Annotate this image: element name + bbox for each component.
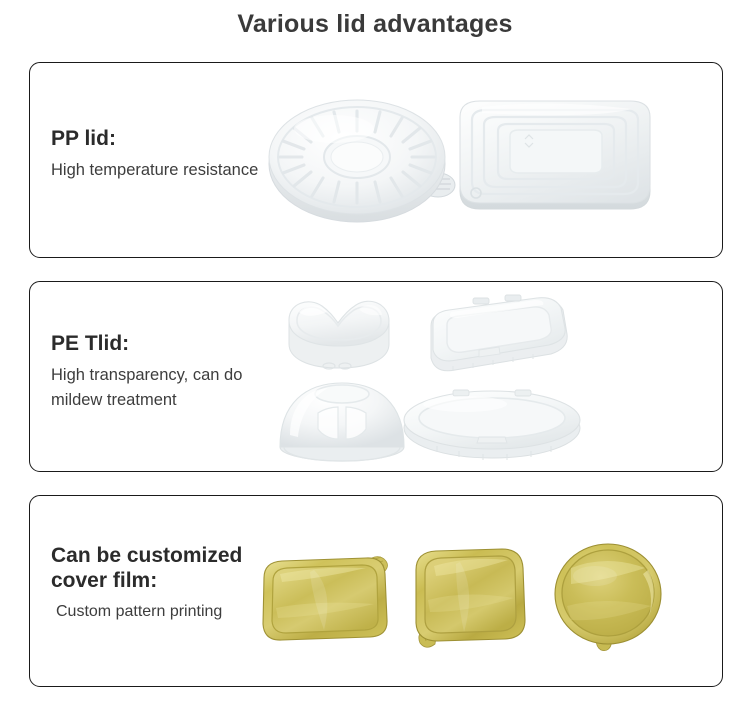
- panel-cover-film-product-images: [252, 496, 722, 686]
- panel-pp-heading: PP lid:: [51, 127, 258, 152]
- panel-pp-product-images: [252, 63, 722, 257]
- rectangular-pp-lid: [442, 79, 667, 239]
- rectangular-gold-foil-lid: [254, 544, 404, 649]
- panel-cover-film-text-block: Can be customized cover film: Custom pat…: [51, 544, 242, 624]
- panel-cover-film-description: Custom pattern printing: [51, 600, 242, 625]
- dome-pe-lid: [274, 377, 414, 465]
- panel-pe-text-block: PE Tlid: High transparency, can do milde…: [51, 332, 242, 414]
- square-gold-foil-lid: [404, 542, 534, 652]
- panel-pp-text-block: PP lid: High temperature resistance: [51, 127, 258, 183]
- panel-pe-product-images: [252, 282, 722, 471]
- page-title: Various lid advantages: [0, 10, 750, 39]
- round-pp-lid: [262, 85, 462, 235]
- square-pe-lid: [417, 290, 582, 382]
- panel-cover-film-heading: Can be customized cover film:: [51, 544, 242, 594]
- panel-pp-lid: PP lid: High temperature resistance: [29, 62, 723, 258]
- panel-pp-description: High temperature resistance: [51, 158, 258, 184]
- panel-cover-film: Can be customized cover film: Custom pat…: [29, 495, 723, 687]
- round-gold-foil-lid: [545, 540, 675, 655]
- heart-pe-lid: [277, 292, 412, 382]
- panel-pe-heading: PE Tlid:: [51, 332, 242, 357]
- oval-pe-lid: [397, 382, 587, 464]
- panel-pe-description: High transparency, can do mildew treatme…: [51, 363, 242, 414]
- panel-pe-lid: PE Tlid: High transparency, can do milde…: [29, 281, 723, 472]
